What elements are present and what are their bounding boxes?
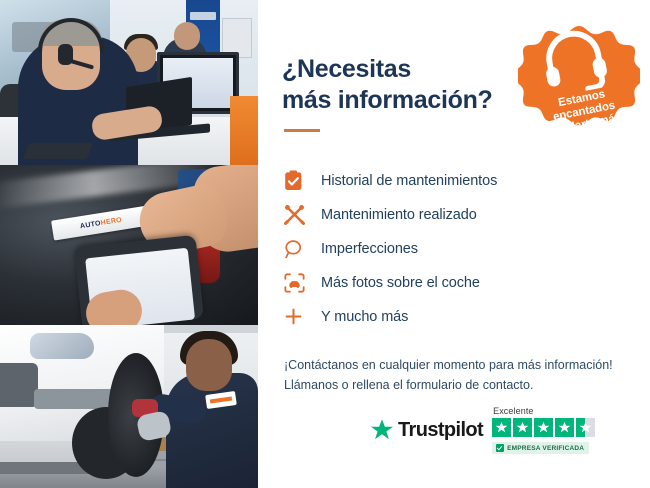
verified-label: EMPRESA VERIFICADA [507,445,584,452]
feature-label: Y mucho más [314,309,408,325]
trustpilot-star-row [492,418,595,437]
call-center-agent-photo [0,0,258,165]
promo-banner: AUTOHERO [0,0,650,488]
magnifier-icon [284,239,314,259]
status-badge-verified: EMPRESA VERIFICADA [492,442,589,454]
trustpilot-score: Excelente [492,406,595,454]
car-photo-frame-icon [284,273,314,293]
list-item: Mantenimiento realizado [284,198,626,231]
accent-divider [284,129,320,132]
trustpilot-rating[interactable]: Trustpilot Excelente [370,406,595,454]
feature-label: Más fotos sobre el coche [314,275,480,291]
trustpilot-star-3 [534,418,553,437]
star-glyph [495,421,508,434]
mechanic-wheel-check-photo [0,325,258,488]
trustpilot-star-5 [576,418,595,437]
feature-label: Mantenimiento realizado [314,207,477,223]
clipboard-check-icon-glyph [284,170,303,191]
ruler-brand-text: AUTOHERO [80,216,123,230]
trustpilot-star-icon [370,418,394,442]
wrench-screwdriver-icon [284,204,314,225]
list-item: Historial de mantenimientos [284,164,626,197]
contact-line-2: Llámanos o rellena el formulario de cont… [284,378,533,392]
star-glyph [558,421,571,434]
trustpilot-wordmark: Trustpilot [398,419,483,442]
feature-label: Historial de mantenimientos [314,173,497,189]
trustpilot-star-1 [492,418,511,437]
contact-line-1: ¡Contáctanos en cualquier momento para m… [284,358,613,372]
plus-icon [284,307,314,326]
page-title: ¿Necesitas más información? [282,54,512,115]
trustpilot-rating-label: Excelente [493,406,533,416]
trustpilot-star-2 [513,418,532,437]
feature-list: Historial de mantenimientos M [284,164,626,333]
check-icon [496,444,504,452]
trustpilot-star-4 [555,418,574,437]
headline-line-2: más información? [282,86,493,114]
content-panel: ¿Necesitas más información? Estamos enca… [258,0,650,488]
list-item: Y mucho más [284,300,626,333]
wrench-screwdriver-icon-glyph [284,204,305,225]
vehicle-inspection-ruler-photo: AUTOHERO [0,165,258,325]
plus-icon-glyph [284,307,303,326]
star-glyph [537,421,550,434]
starburst-shape-icon [518,24,640,146]
list-item: Imperfecciones [284,232,626,265]
car-headlight [30,333,94,359]
photo-column: AUTOHERO [0,0,258,488]
feature-label: Imperfecciones [314,241,418,257]
contact-copy: ¡Contáctanos en cualquier momento para m… [284,355,626,396]
car-photo-frame-icon-glyph [284,273,305,293]
background-colleague-two-head [174,22,200,50]
orange-shelving [230,96,258,165]
star-glyph [516,421,529,434]
star-glyph [579,421,592,434]
trustpilot-logo[interactable]: Trustpilot [370,418,483,442]
desk-tablet [23,143,93,159]
mechanic-head [186,339,232,391]
car-grille [0,363,38,407]
status-badge: Estamos encantados de darte más informac… [518,24,640,146]
headline-line-1: ¿Necesitas [282,55,411,83]
magnifier-icon-glyph [284,239,304,259]
clipboard-check-icon [284,170,314,191]
list-item: Más fotos sobre el coche [284,266,626,299]
